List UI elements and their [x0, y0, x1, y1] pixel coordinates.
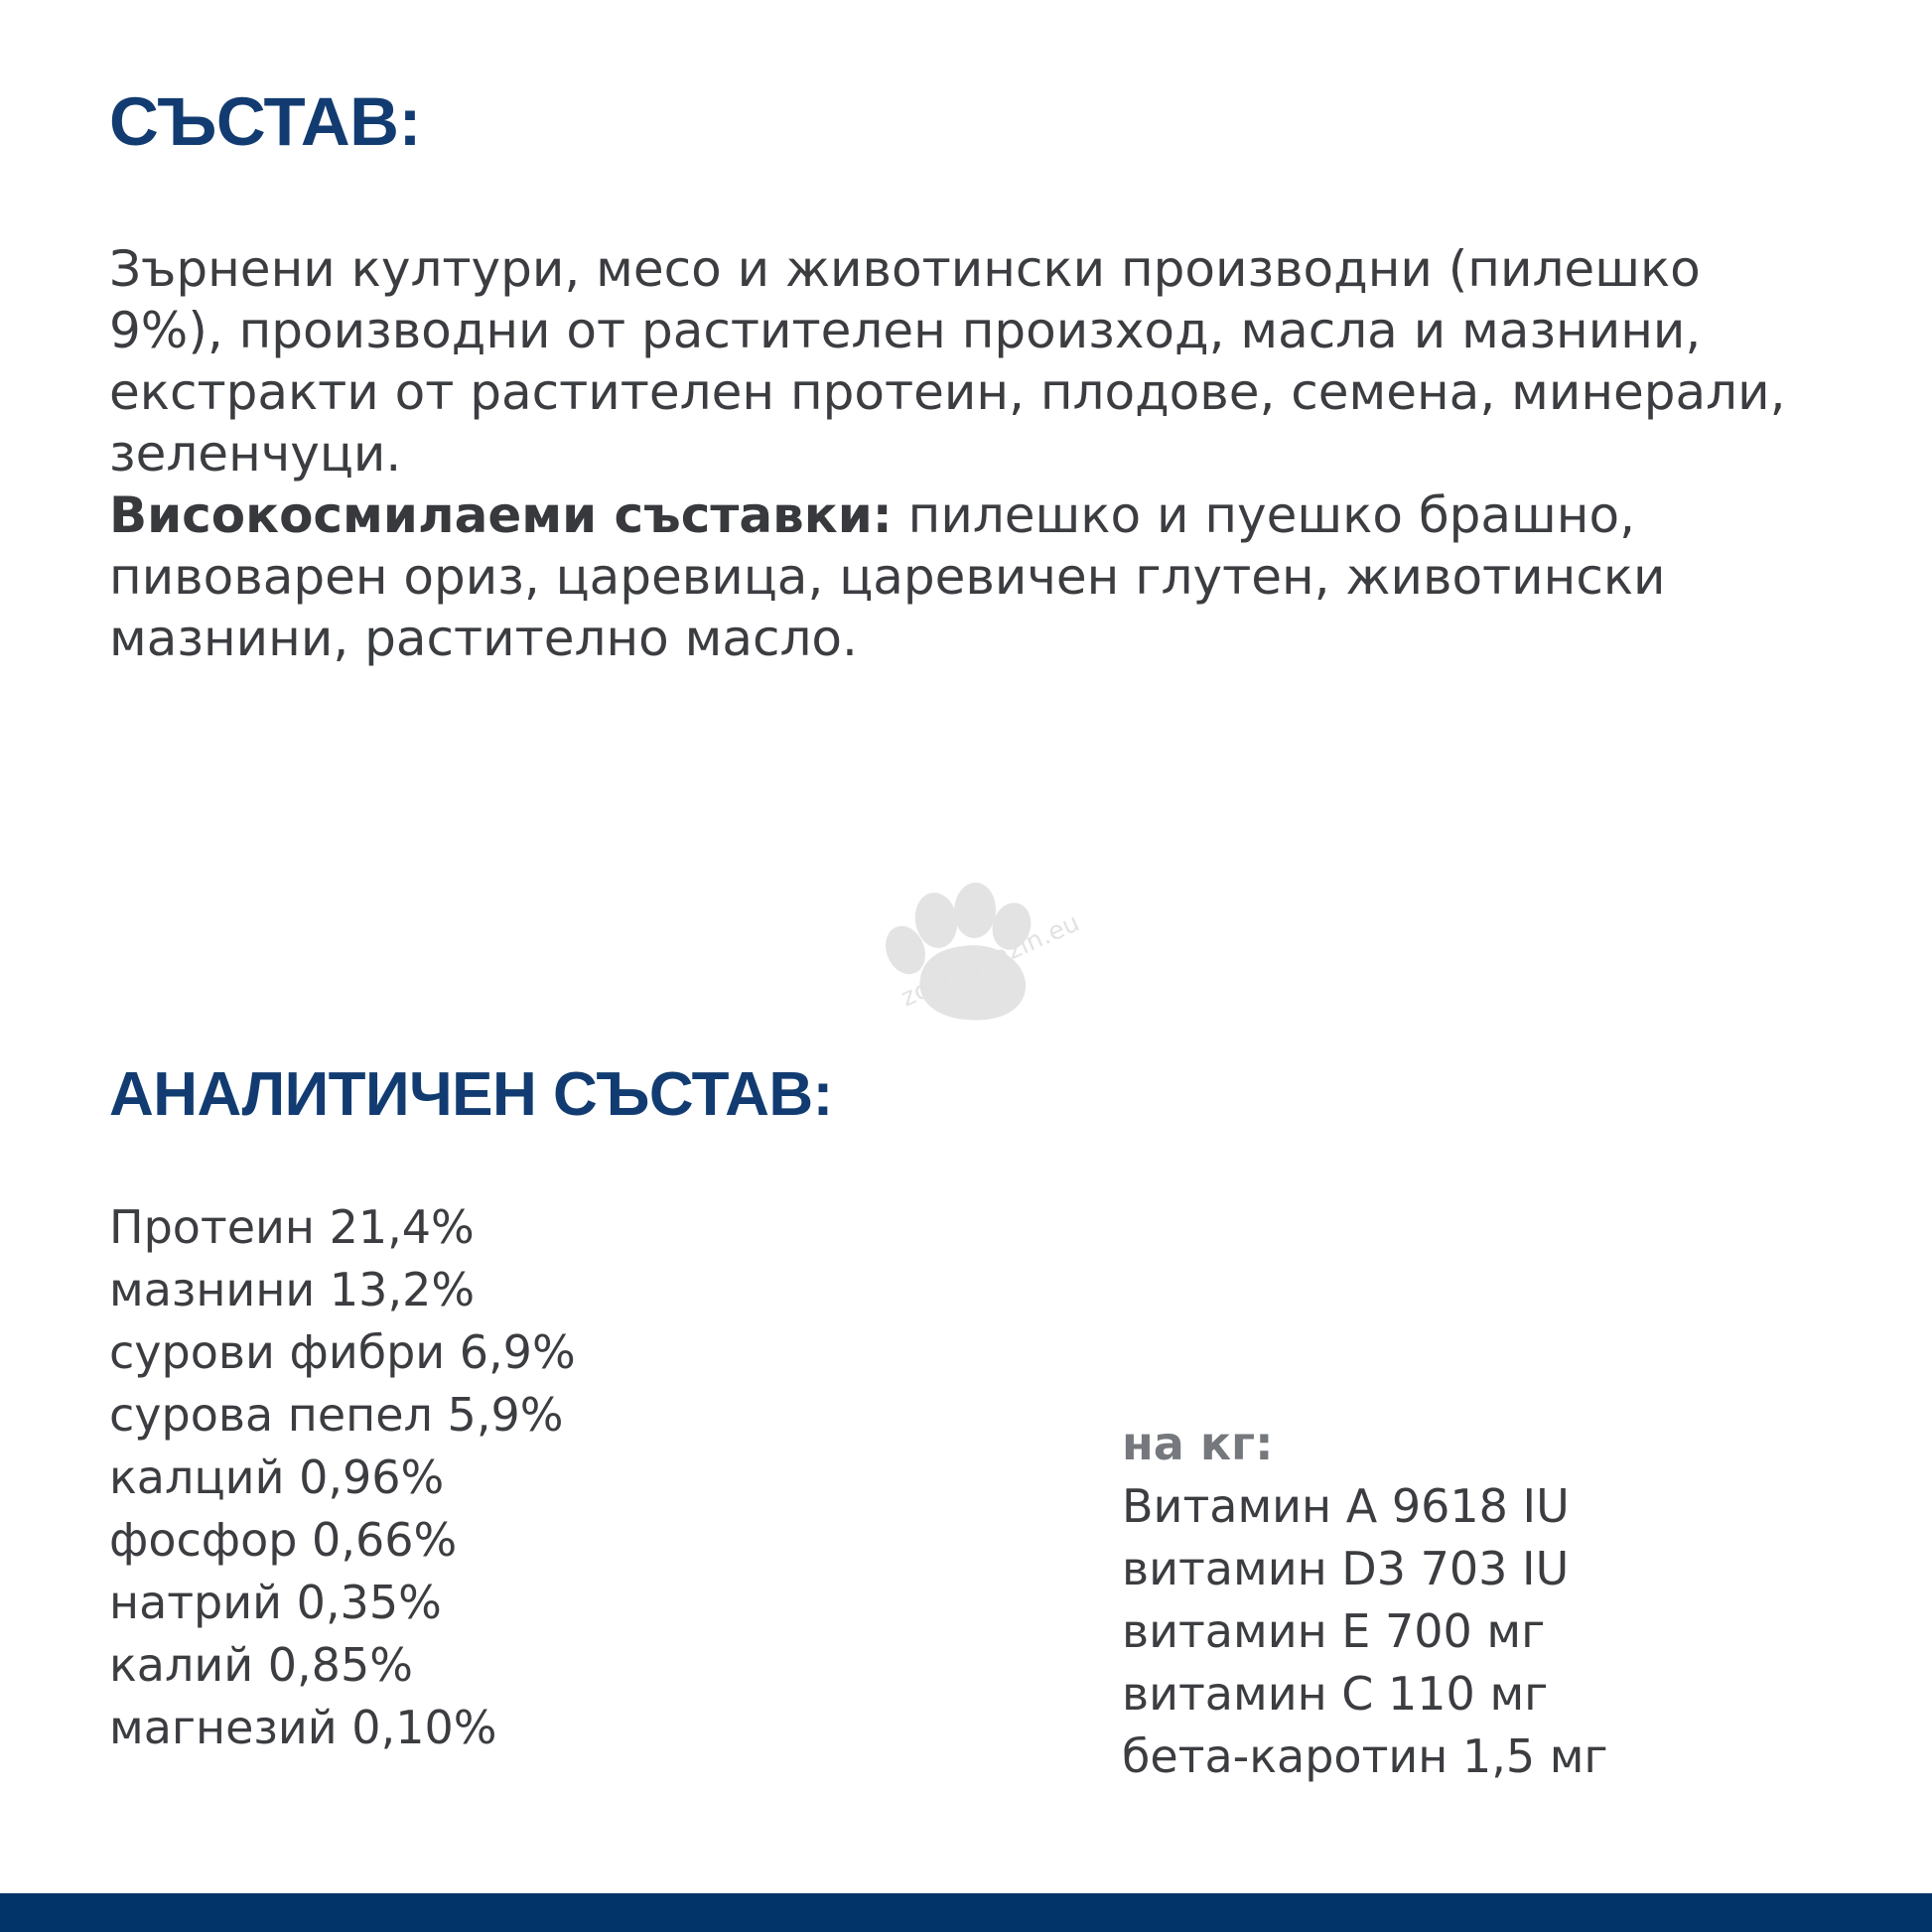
analytical-composition-heading: АНАЛИТИЧЕН СЪСТАВ:	[109, 1064, 833, 1126]
vitamin-row: витамин E 700 мг	[1122, 1600, 1876, 1663]
nutrient-row: Протеин 21,4%	[109, 1196, 864, 1259]
nutrient-row: калций 0,96%	[109, 1447, 864, 1509]
composition-heading: СЪСТАВ:	[109, 87, 421, 156]
bottom-accent-bar	[0, 1893, 1932, 1932]
nutrient-row: калий 0,85%	[109, 1634, 864, 1697]
nutrient-row: мазнини 13,2%	[109, 1259, 864, 1321]
nutrient-row: сурова пепел 5,9%	[109, 1384, 864, 1447]
vitamin-row: витамин C 110 мг	[1122, 1663, 1876, 1725]
vitamin-row: Витамин A 9618 IU	[1122, 1475, 1876, 1538]
product-label-page: СЪСТАВ: Зърнени култури, месо и животинс…	[0, 0, 1932, 1932]
paw-print-icon	[879, 869, 1087, 1028]
composition-plain-text: Зърнени култури, месо и животински произ…	[109, 240, 1786, 483]
vitamin-row: бета-каротин 1,5 мг	[1122, 1725, 1876, 1788]
nutrient-row: магнезий 0,10%	[109, 1697, 864, 1759]
nutrient-row: сурови фибри 6,9%	[109, 1321, 864, 1384]
nutrient-row: натрий 0,35%	[109, 1572, 864, 1634]
highly-digestible-label: Високосмилаеми съставки:	[109, 486, 893, 544]
vitamin-row: витамин D3 703 IU	[1122, 1538, 1876, 1600]
nutrient-row: фосфор 0,66%	[109, 1509, 864, 1572]
composition-paragraph: Зърнени култури, месо и животински произ…	[109, 238, 1827, 669]
vitamin-list-right: на кг: Витамин A 9618 IU витамин D3 703 …	[1122, 1413, 1876, 1788]
nutrient-list-left: Протеин 21,4% мазнини 13,2% сурови фибри…	[109, 1196, 864, 1759]
per-kilogram-label: на кг:	[1122, 1413, 1876, 1475]
watermark-text: zoomagazin.eu	[897, 907, 1084, 1012]
watermark: zoomagazin.eu	[879, 869, 1087, 1067]
